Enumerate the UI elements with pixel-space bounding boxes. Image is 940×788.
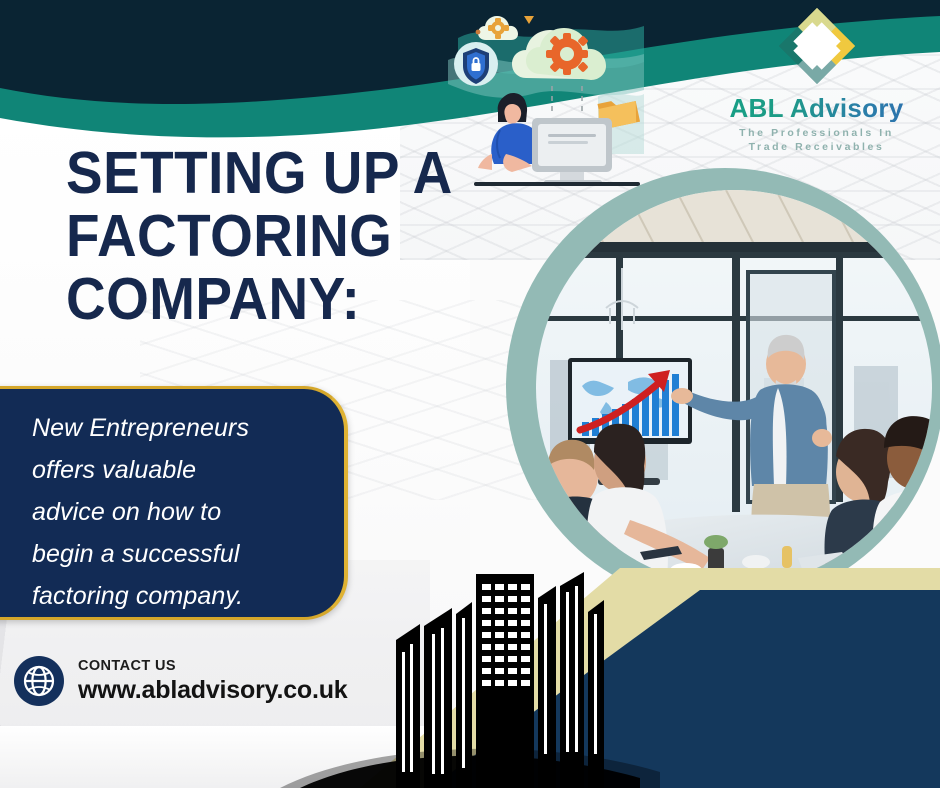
monitor-icon (532, 118, 612, 185)
shield-lock-icon (454, 42, 498, 86)
desk-line (474, 182, 640, 186)
globe-icon (14, 656, 64, 706)
brand-tagline-line2: Trade Receivables (709, 140, 924, 154)
dot-accent-icon (476, 30, 481, 35)
contact-url[interactable]: www.abladvisory.co.uk (78, 678, 348, 703)
title-line-3: COMPANY: (66, 268, 457, 331)
person-at-computer (478, 93, 541, 172)
poster-canvas: ABL Advisory The Professionals In Trade … (0, 0, 940, 788)
boardroom-presentation-photo (536, 190, 932, 586)
brand-tagline-line1: The Professionals In (709, 126, 924, 140)
contact-block: CONTACT US www.abladvisory.co.uk (14, 656, 348, 706)
quote-line-3: advice on how to (32, 491, 314, 533)
title-line-1: SETTING UP A (66, 142, 457, 205)
quote-line-1: New Entrepreneurs (32, 407, 314, 449)
quote-line-4: begin a successful (32, 533, 314, 575)
cloud-computing-illustration (448, 4, 644, 190)
quote-box: New Entrepreneurs offers valuable advice… (0, 386, 348, 620)
brand-name: ABL Advisory (709, 95, 924, 122)
title-line-2: FACTORING (66, 205, 457, 268)
quote-text: New Entrepreneurs offers valuable advice… (32, 407, 314, 617)
quote-line-2: offers valuable (32, 449, 314, 491)
quote-line-5: factoring company. (32, 575, 314, 617)
brand-logo: ABL Advisory The Professionals In Trade … (709, 4, 924, 154)
diamond-logo-icon (775, 4, 859, 88)
contact-label: CONTACT US (78, 659, 348, 674)
page-title: SETTING UP A FACTORING COMPANY: (66, 142, 457, 331)
brand-tagline: The Professionals In Trade Receivables (709, 126, 924, 154)
